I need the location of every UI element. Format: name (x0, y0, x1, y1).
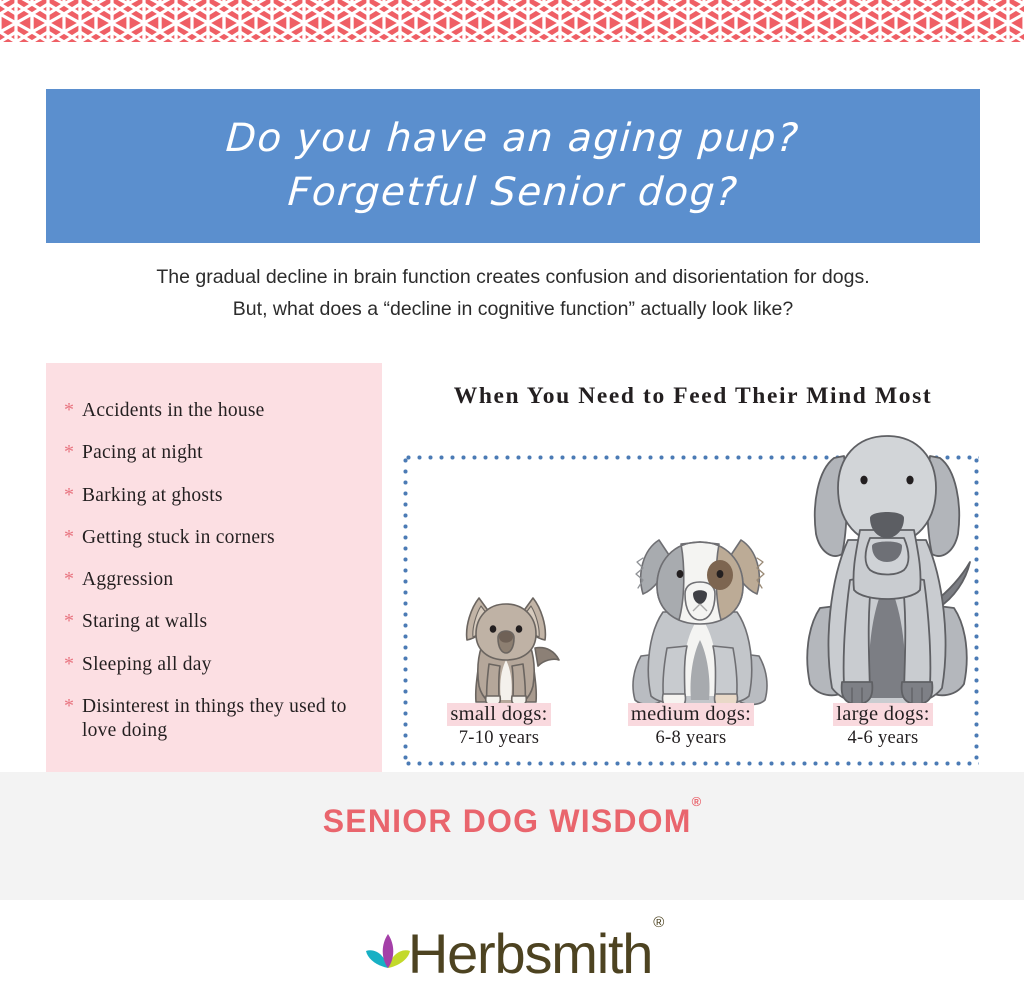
size-column-medium: medium dogs: 6-8 years (595, 703, 787, 761)
list-item: * Disinterest in things they used to lov… (64, 695, 362, 743)
bullet-star-icon: * (64, 568, 82, 590)
bullet-star-icon: * (64, 695, 82, 717)
size-name-medium: medium dogs: (628, 703, 754, 726)
headline-line-1: Do you have an aging pup? (224, 112, 801, 166)
eye (677, 570, 684, 578)
size-name-small: small dogs: (447, 703, 550, 726)
eye (906, 476, 913, 485)
subtitle-line-1: The gradual decline in brain function cr… (46, 262, 980, 294)
symptom-list-box: * Accidents in the house * Pacing at nig… (46, 363, 382, 772)
brand-tagline-text: SENIOR DOG WISDOM (323, 803, 692, 839)
herbsmith-logo[interactable]: Herbsmith® (0, 915, 1024, 993)
herbsmith-leaf-logo-icon (362, 932, 414, 976)
registered-mark-icon: ® (653, 914, 663, 931)
border-collie-medium-dog-icon (625, 528, 775, 710)
bullet-star-icon: * (64, 399, 82, 421)
herbsmith-wordmark: Herbsmith® (408, 926, 662, 982)
symptom-label: Barking at ghosts (82, 484, 223, 508)
great-dane-large-dog-icon (798, 430, 976, 710)
feed-panel-title: When You Need to Feed Their Mind Most (404, 383, 982, 410)
bullet-star-icon: * (64, 610, 82, 632)
symptom-label: Getting stuck in corners (82, 526, 275, 550)
size-column-large: large dogs: 4-6 years (787, 703, 979, 761)
subtitle-block: The gradual decline in brain function cr… (46, 262, 980, 325)
asanoha-pattern (0, 0, 1024, 42)
dog-size-labels: small dogs: 7-10 years medium dogs: 6-8 … (403, 703, 979, 761)
headline-line-2: Forgetful Senior dog? (286, 166, 740, 220)
symptom-label: Accidents in the house (82, 399, 265, 423)
bullet-star-icon: * (64, 484, 82, 506)
list-item: * Getting stuck in corners (64, 526, 362, 550)
list-item: * Accidents in the house (64, 399, 362, 423)
brand-tagline: SENIOR DOG WISDOM® (0, 803, 1024, 840)
dotted-line-bottom (403, 761, 979, 766)
list-item: * Aggression (64, 568, 362, 592)
headline-banner: Do you have an aging pup? Forgetful Seni… (46, 89, 980, 243)
symptom-label: Aggression (82, 568, 173, 592)
eye (860, 476, 867, 485)
list-item: * Barking at ghosts (64, 484, 362, 508)
symptom-label: Disinterest in things they used to love … (82, 695, 362, 743)
herbsmith-wordmark-text: Herbsmith (408, 922, 652, 985)
chihuahua-small-dog-icon (443, 590, 568, 710)
subtitle-line-2: But, what does a “decline in cognitive f… (46, 294, 980, 326)
decorative-pattern-band (0, 0, 1024, 42)
size-name-large: large dogs: (833, 703, 932, 726)
size-years-small: 7-10 years (403, 728, 595, 749)
bullet-star-icon: * (64, 653, 82, 675)
list-item: * Sleeping all day (64, 653, 362, 677)
eye (516, 625, 523, 633)
symptom-label: Pacing at night (82, 441, 203, 465)
symptom-label: Sleeping all day (82, 653, 212, 677)
list-item: * Pacing at night (64, 441, 362, 465)
bullet-star-icon: * (64, 526, 82, 548)
bullet-star-icon: * (64, 441, 82, 463)
symptom-label: Staring at walls (82, 610, 207, 634)
size-years-medium: 6-8 years (595, 728, 787, 749)
nose (499, 631, 513, 642)
eye (490, 625, 497, 633)
registered-mark-icon: ® (692, 794, 702, 809)
dog-illustration-stage (403, 420, 979, 710)
size-column-small: small dogs: 7-10 years (403, 703, 595, 761)
eye (717, 570, 724, 578)
list-item: * Staring at walls (64, 610, 362, 634)
size-years-large: 4-6 years (787, 728, 979, 749)
